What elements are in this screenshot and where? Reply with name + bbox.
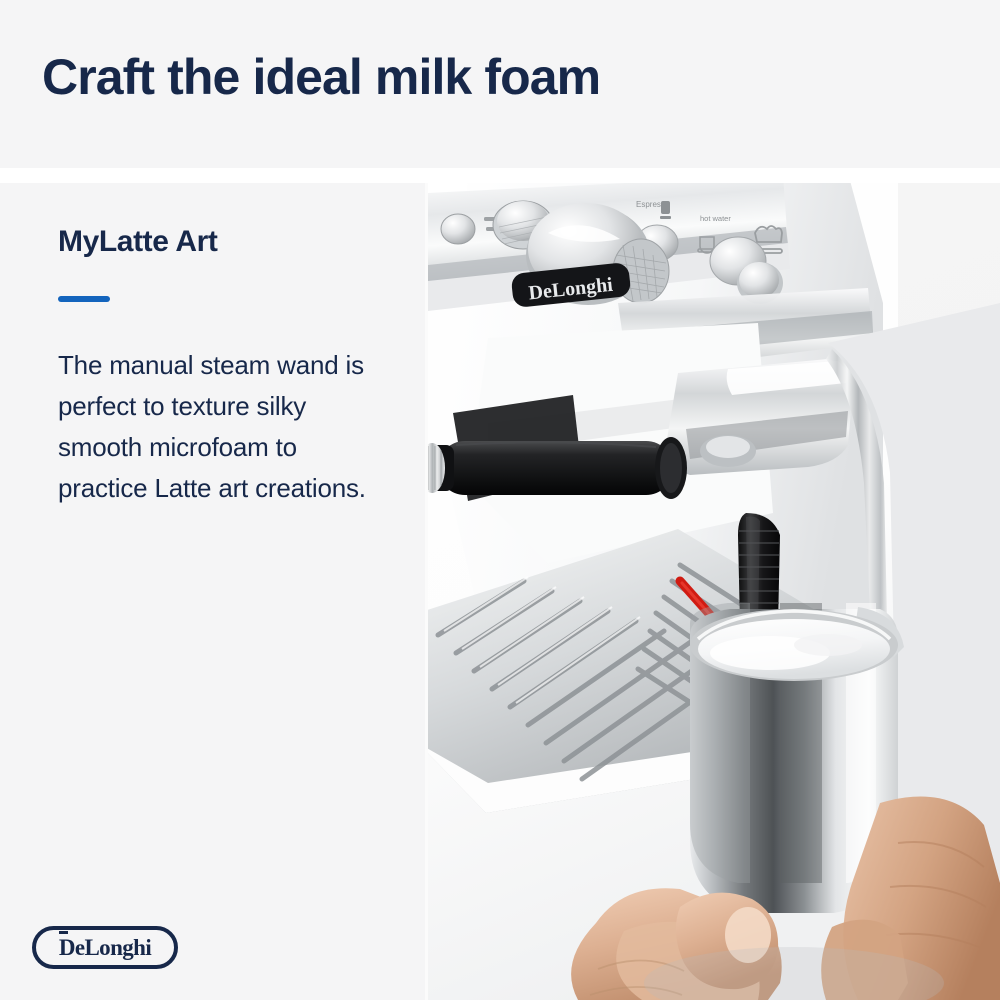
delonghi-logo: DeLonghi [32,926,178,969]
product-photo: Espresso hot water [428,183,1000,1000]
label-hot-water: hot water [700,214,731,223]
left-text-panel [0,183,425,1000]
header: Craft the ideal milk foam [0,0,1000,168]
accent-bar [58,296,110,302]
group-head [666,359,853,475]
page-root: Craft the ideal milk foam MyLatte Art Th… [0,0,1000,1000]
steam-icon [660,201,671,219]
product-photo-illustration: Espresso hot water [428,183,1000,1000]
header-divider [0,168,1000,183]
logo-macron-accent [59,931,68,934]
feature-title: MyLatte Art [58,225,218,259]
feature-description: The manual steam wand is perfect to text… [58,345,388,509]
logo-text: DeLonghi [59,935,151,961]
page-title: Craft the ideal milk foam [42,47,600,107]
